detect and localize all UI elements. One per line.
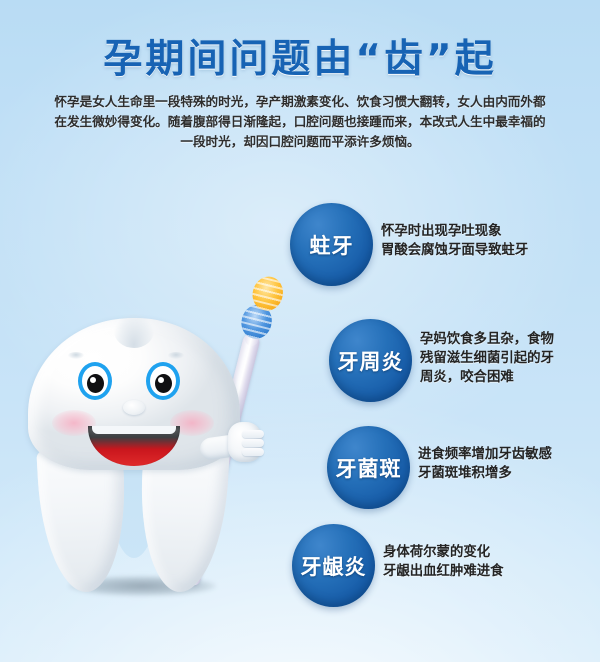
- issue-desc-2-line-2: 残留滋生细菌引起的牙: [420, 349, 554, 368]
- issue-desc-1: 怀孕时出现孕吐现象 胃酸会腐蚀牙面导致蛀牙: [381, 222, 528, 260]
- issue-badge-label-2: 牙周炎: [338, 346, 404, 376]
- issue-badge-4[interactable]: 牙龈炎: [292, 524, 375, 607]
- tooth-mascot: [18, 318, 268, 618]
- issue-desc-4-line-2: 牙龈出血红肿难进食: [383, 562, 504, 581]
- mascot-finger-3: [242, 448, 264, 456]
- issue-desc-3-line-1: 进食频率增加牙齿敏感: [418, 445, 552, 464]
- issue-badge-label-1: 蛀牙: [310, 230, 354, 260]
- issue-desc-3-line-2: 牙菌斑堆积增多: [418, 464, 552, 483]
- tooth-crown-notch: [114, 314, 154, 348]
- tooth-body: [28, 318, 240, 590]
- issue-desc-1-line-1: 怀孕时出现孕吐现象: [381, 222, 528, 241]
- issue-badge-1[interactable]: 蛀牙: [290, 203, 373, 286]
- issue-desc-2-line-3: 周炎，咬合困难: [420, 368, 554, 387]
- issue-badge-2[interactable]: 牙周炎: [329, 319, 412, 402]
- issue-badge-label-3: 牙菌斑: [336, 453, 402, 483]
- issue-desc-3: 进食频率增加牙齿敏感 牙菌斑堆积增多: [418, 445, 552, 483]
- page-title: 孕期间问题由“齿”起: [0, 28, 600, 84]
- issue-desc-4-line-1: 身体荷尔蒙的变化: [383, 543, 504, 562]
- eyebrow-left: [68, 352, 84, 359]
- issue-badge-3[interactable]: 牙菌斑: [327, 426, 410, 509]
- intro-line-3: 一段时光，却因口腔问题而平添许多烦恼。: [34, 132, 566, 152]
- eye-left: [78, 362, 112, 400]
- nose: [123, 400, 145, 415]
- intro-line-2: 在发生微妙得变化。随着腹部得日渐隆起，口腔问题也接踵而来，本改式人生中最幸福的: [34, 112, 566, 132]
- issue-desc-4: 身体荷尔蒙的变化 牙龈出血红肿难进食: [383, 543, 504, 581]
- eyebrow-right: [168, 352, 184, 359]
- infographic-poster: 孕期间问题由“齿”起 怀孕是女人生命里一段特殊的时光，孕产期激素变化、饮食习惯大…: [0, 0, 600, 662]
- pupil-right: [155, 374, 172, 393]
- mascot-finger-1: [242, 430, 264, 438]
- mouth-upper-teeth: [92, 426, 176, 434]
- intro-line-1: 怀孕是女人生命里一段特殊的时光，孕产期激素变化、饮食习惯大翻转，女人由内而外都: [34, 92, 566, 112]
- mascot-finger-2: [242, 439, 264, 447]
- pupil-left: [87, 374, 104, 393]
- eye-right: [146, 362, 180, 400]
- issue-badge-label-4: 牙龈炎: [301, 551, 367, 581]
- intro-paragraph: 怀孕是女人生命里一段特殊的时光，孕产期激素变化、饮食习惯大翻转，女人由内而外都 …: [34, 92, 566, 152]
- issue-desc-2-line-1: 孕妈饮食多且杂，食物: [420, 330, 554, 349]
- issue-desc-2: 孕妈饮食多且杂，食物 残留滋生细菌引起的牙 周炎，咬合困难: [420, 330, 554, 387]
- issue-desc-1-line-2: 胃酸会腐蚀牙面导致蛀牙: [381, 241, 528, 260]
